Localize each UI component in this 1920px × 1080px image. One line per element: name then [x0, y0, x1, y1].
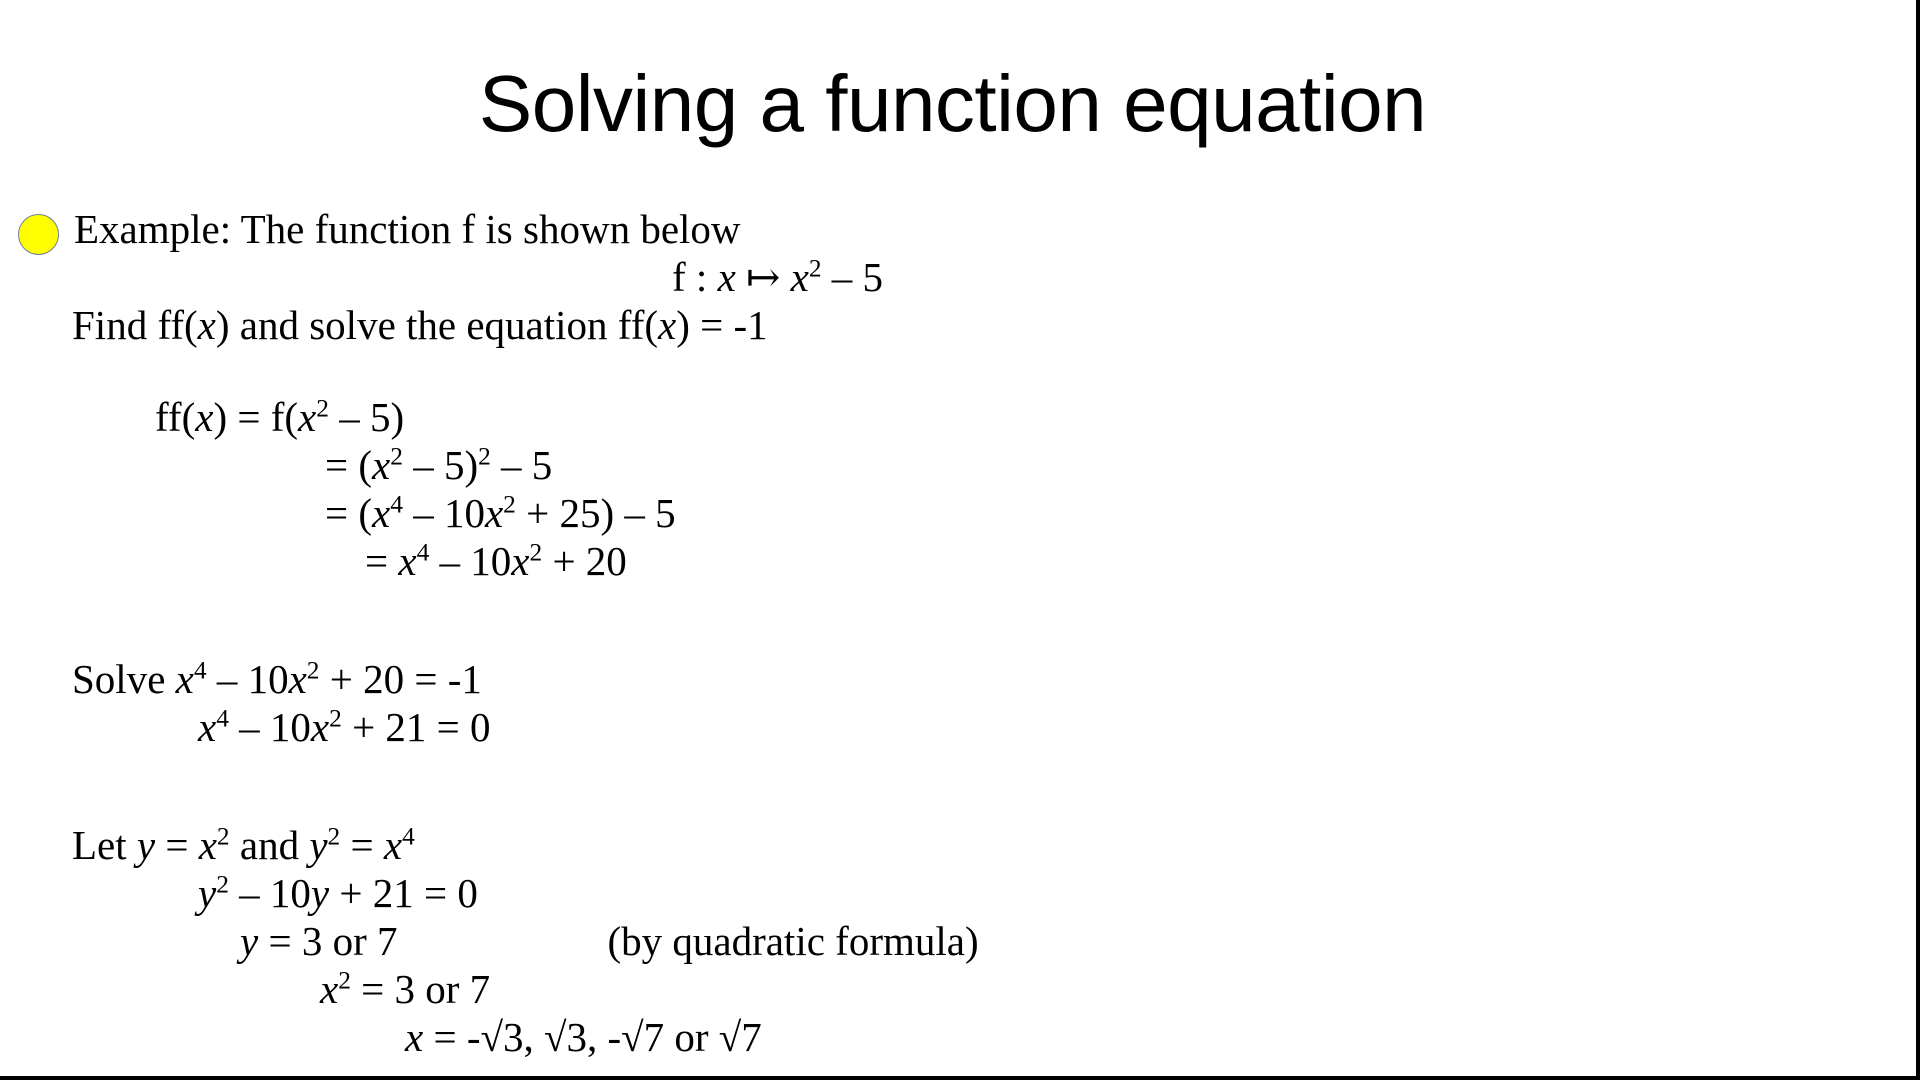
yellow-circle-bullet-icon [18, 214, 59, 255]
d4-var-2: x [511, 538, 529, 584]
function-expression-tail: – 5 [832, 254, 883, 300]
task-find: Find ff( [72, 302, 198, 348]
y-roots-tail: = 3 or 7 [258, 918, 397, 964]
solve-label: Solve [72, 656, 176, 702]
let-var-x4: x [384, 822, 402, 868]
quadratic-line: y2 – 10y + 21 = 0 [0, 869, 1905, 917]
d4-exp-1: 4 [417, 538, 430, 566]
ff-var-2: x [298, 394, 316, 440]
let-and: and [230, 822, 310, 868]
xsq-var: x [320, 966, 338, 1012]
d4-var-1: x [398, 538, 416, 584]
ff-eq: ) = f( [213, 394, 298, 440]
task-var-1: x [198, 302, 216, 348]
xroots-var: x [405, 1014, 423, 1060]
s2-var-2: x [311, 704, 329, 750]
d2-eq: = ( [325, 442, 372, 488]
solve-line-1: Solve x4 – 10x2 + 20 = -1 [0, 655, 1905, 703]
d3-var-2: x [485, 490, 503, 536]
slide-canvas: Solving a function equation Example: The… [0, 0, 1920, 1080]
d2-mid: – 5) [403, 442, 478, 488]
ff-tail: – 5) [329, 394, 404, 440]
derivation-line-1: ff(x) = f(x2 – 5) [0, 393, 1905, 441]
task-end: ) = -1 [676, 302, 767, 348]
let-exp-y2: 2 [328, 822, 341, 850]
xsq-exp: 2 [338, 966, 351, 994]
y-roots-var: y [240, 918, 258, 964]
s1-tail: + 20 = -1 [319, 656, 481, 702]
derivation-line-2: = (x2 – 5)2 – 5 [0, 441, 1905, 489]
let-var-x: x [199, 822, 217, 868]
derivation-line-4: = x4 – 10x2 + 20 [0, 537, 1905, 585]
bullet-list-item: Example: The function f is shown below [0, 205, 1905, 253]
quadratic-formula-note: (by quadratic formula) [607, 917, 978, 965]
let-var-y: y [137, 822, 155, 868]
s2-tail: + 21 = 0 [342, 704, 491, 750]
s2-var-1: x [198, 704, 216, 750]
d2-exp: 2 [390, 442, 403, 470]
task-line: Find ff(x) and solve the equation ff(x) … [0, 301, 1905, 349]
q-var-2: y [311, 870, 329, 916]
d3-mid: – 10 [403, 490, 485, 536]
task-var-2: x [658, 302, 676, 348]
d3-eq: = ( [325, 490, 372, 536]
s1-var-1: x [176, 656, 194, 702]
spacer [0, 629, 1905, 655]
let-label: Let [72, 822, 137, 868]
d2-tail: – 5 [491, 442, 553, 488]
q-exp-1: 2 [216, 870, 229, 898]
d3-exp-2: 2 [503, 490, 516, 518]
function-colon: : [696, 254, 707, 300]
spacer [0, 585, 1905, 629]
derivation-line-3: = (x4 – 10x2 + 25) – 5 [0, 489, 1905, 537]
s2-exp-1: 4 [216, 704, 229, 732]
s1-exp-1: 4 [194, 656, 207, 684]
d3-var-1: x [372, 490, 390, 536]
s1-exp-2: 2 [307, 656, 320, 684]
d3-tail: + 25) – 5 [516, 490, 676, 536]
s2-mid: – 10 [229, 704, 311, 750]
s1-var-2: x [289, 656, 307, 702]
spacer [0, 349, 1905, 393]
d2-var: x [372, 442, 390, 488]
function-name: f [672, 254, 686, 300]
slide-body: Example: The function f is shown below f… [0, 205, 1905, 1061]
let-exp-x4: 4 [402, 822, 415, 850]
ff-var-1: x [195, 394, 213, 440]
mapsto-icon: ↦ [746, 254, 780, 300]
example-text: Example: The function f is shown below [74, 206, 741, 252]
ff-exp-2: 2 [316, 394, 329, 422]
let-eq-1: = [155, 822, 199, 868]
q-mid: – 10 [229, 870, 311, 916]
spacer [0, 751, 1905, 795]
function-variable: x [718, 254, 736, 300]
q-tail: + 21 = 0 [329, 870, 478, 916]
let-line: Let y = x2 and y2 = x4 [0, 821, 1905, 869]
d3-exp-1: 4 [390, 490, 403, 518]
d4-mid: – 10 [429, 538, 511, 584]
d2-exp-outer: 2 [478, 442, 491, 470]
ff-label: ff( [155, 394, 195, 440]
spacer [0, 795, 1905, 821]
let-eq-2: = [340, 822, 384, 868]
d4-tail: + 20 [542, 538, 627, 584]
d4-exp-2: 2 [529, 538, 542, 566]
xsq-tail: = 3 or 7 [351, 966, 490, 1012]
x-roots-line: x = -√3, √3, -√7 or √7 [0, 1013, 1905, 1061]
task-mid: ) and solve the equation ff( [216, 302, 658, 348]
s2-exp-2: 2 [329, 704, 342, 732]
s1-mid: – 10 [207, 656, 289, 702]
page-title: Solving a function equation [0, 62, 1905, 146]
q-var-1: y [198, 870, 216, 916]
function-expression-exponent: 2 [809, 254, 822, 282]
solve-line-2: x4 – 10x2 + 21 = 0 [0, 703, 1905, 751]
function-expression-base: x [791, 254, 809, 300]
y-roots-line: y = 3 or 7(by quadratic formula) [0, 917, 1905, 965]
let-var-y2: y [309, 822, 327, 868]
function-definition-line: f : x ↦ x2 – 5 [0, 253, 1905, 301]
x-squared-line: x2 = 3 or 7 [0, 965, 1905, 1013]
xroots-tail: = -√3, √3, -√7 or √7 [423, 1014, 762, 1060]
d4-eq: = [365, 538, 398, 584]
let-exp-x: 2 [217, 822, 230, 850]
